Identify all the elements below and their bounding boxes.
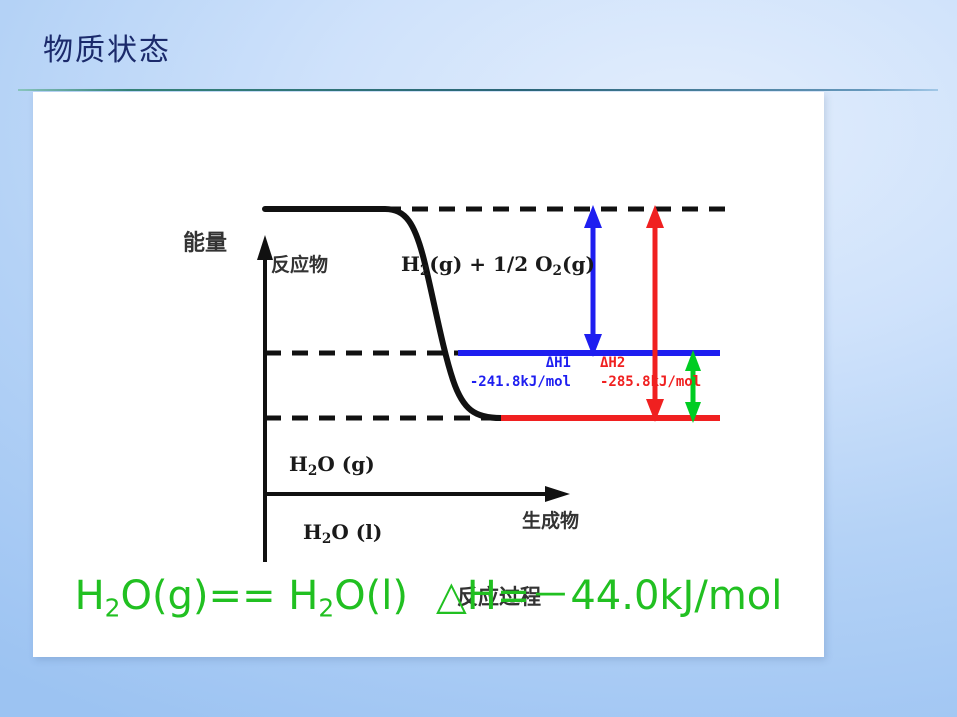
eq-minus-sign: － bbox=[530, 573, 570, 619]
formula-coeff: 1/2 bbox=[493, 252, 528, 276]
eq-left-sub: 2 bbox=[105, 593, 121, 622]
delta-h2-annotation: ΔH2 -285.8kJ/mol bbox=[600, 354, 760, 392]
reactant-label: 反应物 bbox=[271, 256, 328, 275]
delta-h1-arrow bbox=[584, 205, 602, 357]
energy-diagram: 能量 反应物 H2(g) + 1/2 O2(g) H2O (g) H2O (l)… bbox=[33, 92, 824, 562]
formula-h: H bbox=[401, 252, 420, 276]
delta-h1-name: ΔH1 bbox=[433, 354, 571, 373]
eq-right-sub: 2 bbox=[318, 593, 334, 622]
h2ol-sub: 2 bbox=[322, 531, 331, 547]
h2og-h: H bbox=[289, 452, 308, 476]
h2ol-rest: O (l) bbox=[331, 520, 382, 544]
h2ol-h: H bbox=[303, 520, 322, 544]
level-label-water-liquid: H2O (l) bbox=[303, 522, 382, 546]
h2og-sub: 2 bbox=[308, 463, 317, 479]
product-label: 生成物 bbox=[522, 512, 579, 531]
page-title: 物质状态 bbox=[43, 36, 171, 66]
delta-h2-value: -285.8kJ/mol bbox=[600, 373, 760, 392]
h2og-rest: O (g) bbox=[317, 452, 374, 476]
formula-h-state: (g) bbox=[429, 252, 462, 276]
formula-plus: + bbox=[469, 252, 486, 276]
formula-h-sub: 2 bbox=[420, 263, 429, 279]
eq-right-rest: O(l) bbox=[334, 573, 408, 619]
eq-enthalpy-value: 44.0kJ/mol bbox=[570, 573, 782, 619]
delta-h2-name: ΔH2 bbox=[600, 354, 760, 373]
summary-equation: H2O(g)== H2O(l)△H=－44.0kJ/mol bbox=[33, 576, 824, 621]
formula-o-state: (g) bbox=[562, 252, 595, 276]
eq-delta-h: △H= bbox=[436, 573, 530, 619]
formula-o-sub: 2 bbox=[553, 263, 562, 279]
top-level-formula: H2(g) + 1/2 O2(g) bbox=[401, 254, 595, 278]
y-axis-label: 能量 bbox=[183, 233, 227, 255]
level-label-water-gas: H2O (g) bbox=[289, 454, 375, 478]
delta-h1-value: -241.8kJ/mol bbox=[433, 373, 571, 392]
eq-right-h: H bbox=[288, 573, 318, 619]
content-panel: 能量 反应物 H2(g) + 1/2 O2(g) H2O (g) H2O (l)… bbox=[33, 92, 824, 657]
formula-o: O bbox=[535, 252, 552, 276]
delta-h1-annotation: ΔH1 -241.8kJ/mol bbox=[433, 354, 571, 392]
eq-left-rest: O(g) bbox=[120, 573, 208, 619]
eq-equals: == bbox=[209, 573, 289, 619]
title-divider bbox=[18, 89, 938, 91]
slide-canvas: 物质状态 bbox=[0, 0, 957, 717]
eq-left-h: H bbox=[75, 573, 105, 619]
